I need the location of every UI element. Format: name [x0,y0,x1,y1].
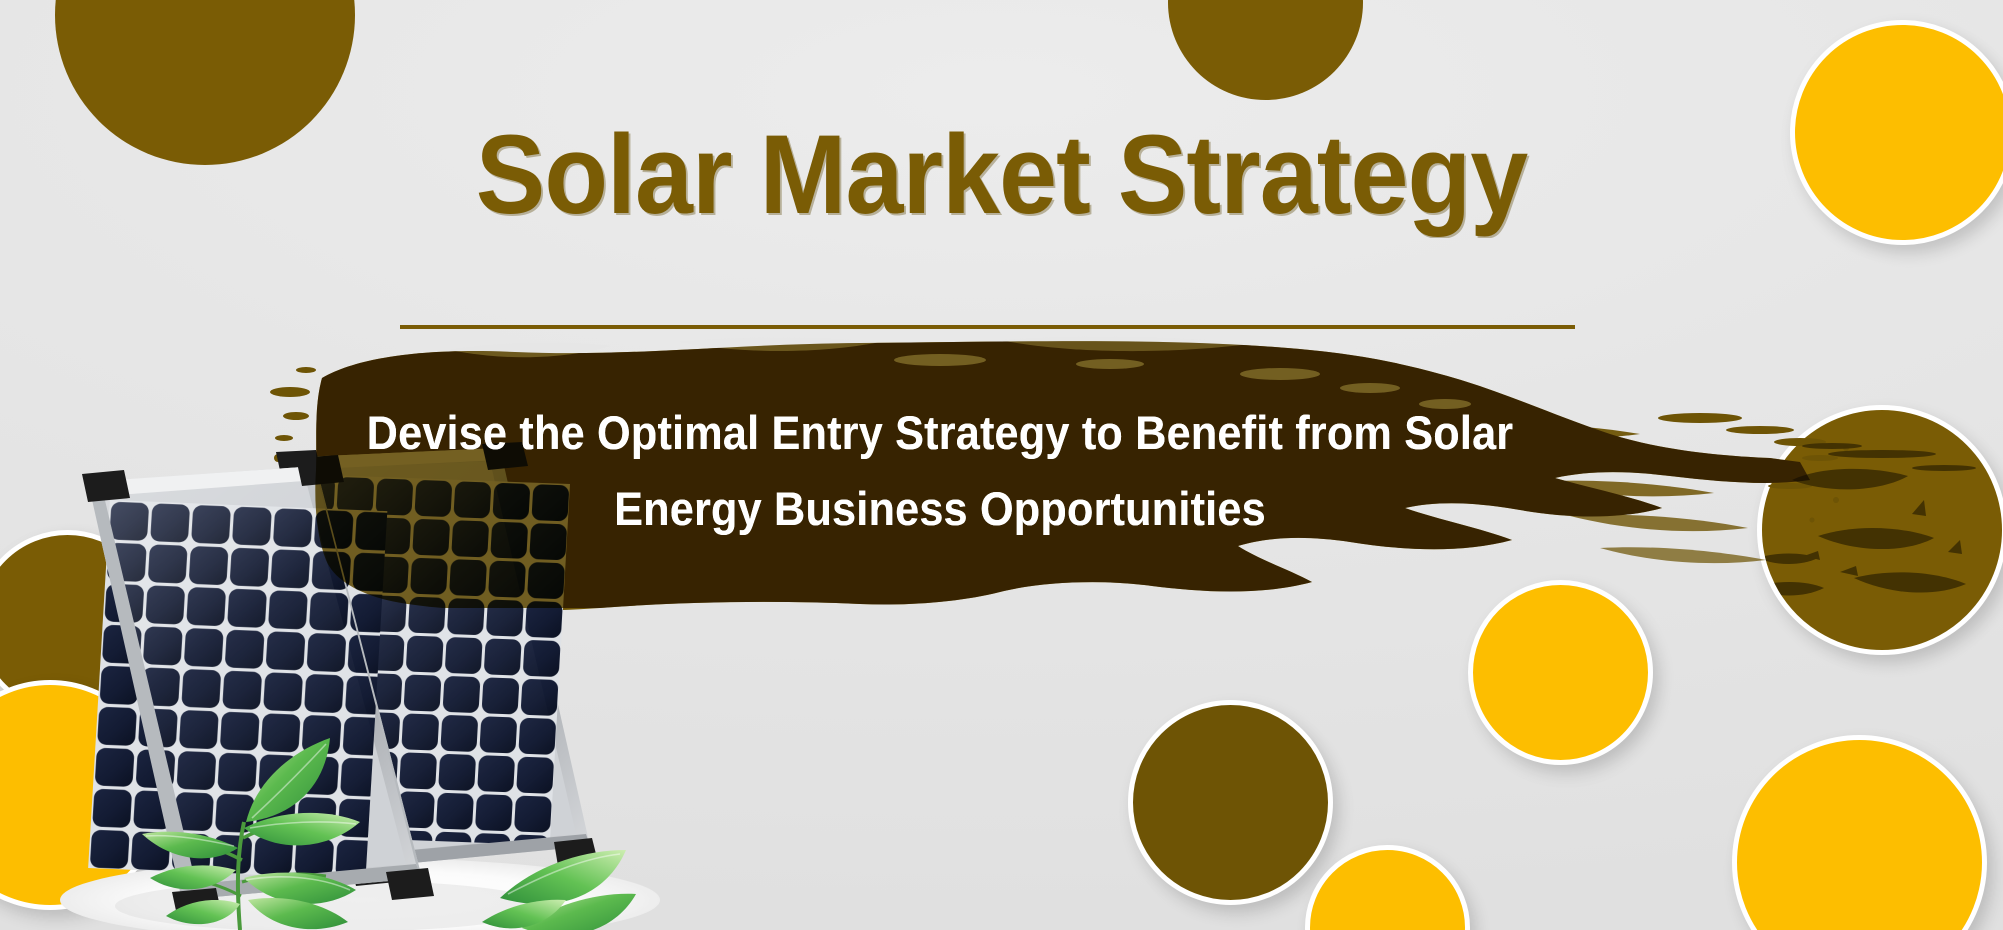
subtitle-block-overlay: Devise the Optimal Entry Strategy to Ben… [300,395,1580,547]
circle-bottom-olive [1128,700,1333,905]
subtitle-line-1-overlay: Devise the Optimal Entry Strategy to Ben… [351,395,1529,471]
subtitle-line-2-overlay: Energy Business Opportunities [351,471,1529,547]
title-divider [400,325,1575,329]
main-title-text: Solar Market Strategy [70,118,1933,232]
solar-market-strategy-banner: Solar Market Strategy Devise the Optimal… [0,0,2003,930]
page-title: Solar Market Strategy [0,118,2003,232]
